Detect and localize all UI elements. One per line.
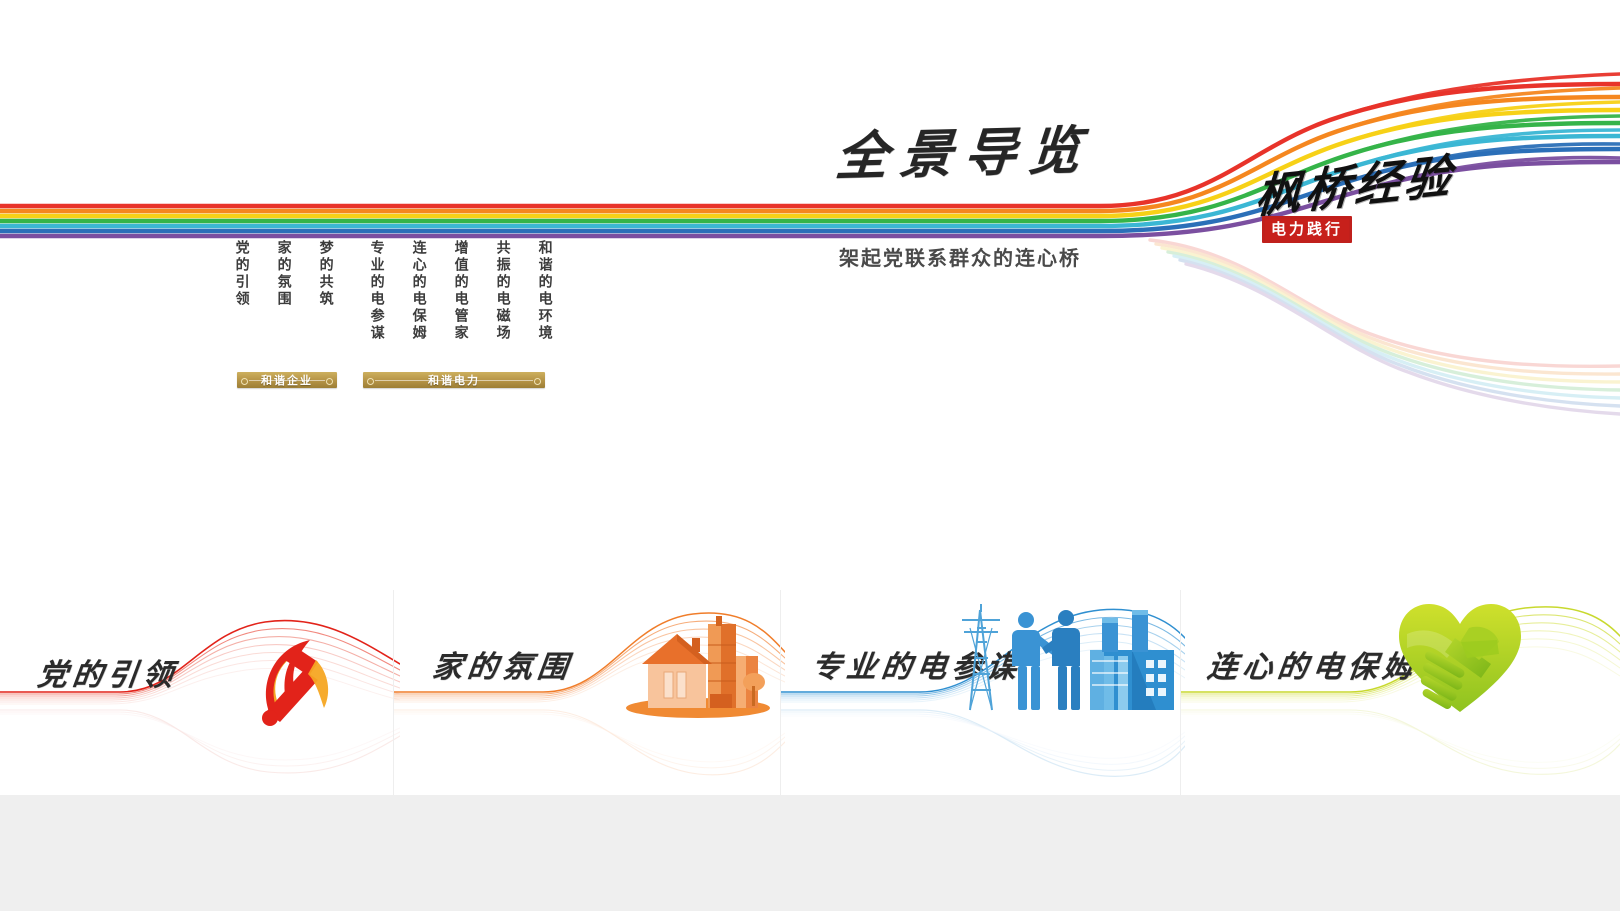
fengqiao-calligraphy-text: 枫桥经验 xyxy=(1253,135,1496,227)
bar-rule xyxy=(249,380,325,381)
house-illustration-icon xyxy=(626,610,776,720)
vertical-column-4: 连心的电保姆 xyxy=(407,240,430,342)
seal-text: 电力践行 xyxy=(1271,221,1343,238)
category-bar-harmonious-power[interactable]: 和谐电力 xyxy=(363,372,545,388)
main-title-block: 全景导览 架起党联系群众的连心桥 xyxy=(836,128,1116,268)
vertical-column-2: 梦的共筑 xyxy=(314,240,337,308)
page-subtitle: 架起党联系群众的连心桥 xyxy=(839,242,1081,271)
power-plant-workers-icon xyxy=(960,598,1180,718)
fengqiao-calligraphy-block: 枫桥经验 电力践行 xyxy=(1255,148,1495,283)
poster-canvas: 全景导览 架起党联系群众的连心桥 枫桥经验 电力践行 党的引领 家的氛围 梦的共… xyxy=(0,0,1620,911)
panel-home-atmosphere[interactable]: 家的氛围 xyxy=(393,560,780,795)
panel-divider-2 xyxy=(780,590,781,795)
vertical-column-3: 专业的电参谋 xyxy=(365,240,388,342)
vertical-column-5: 增值的电管家 xyxy=(449,240,472,342)
vertical-column-6: 共振的电磁场 xyxy=(491,240,514,342)
page-title: 全景导览 xyxy=(834,124,1119,186)
red-seal-stamp: 电力践行 xyxy=(1262,216,1352,243)
vertical-column-7: 和谐的电环境 xyxy=(533,240,556,342)
category-bar-harmonious-enterprise[interactable]: 和谐企业 xyxy=(237,372,337,388)
panel-heart-connected-steward[interactable]: 连心的电保姆 xyxy=(1180,560,1620,795)
panel-label-heart-connected-steward: 连心的电保姆 xyxy=(1205,642,1420,686)
vertical-column-0: 党的引领 xyxy=(230,240,253,308)
party-emblem-icon xyxy=(246,626,351,731)
footer-bar: S.T DESIGN xyxy=(0,795,1620,911)
panel-label-party-leadership: 党的引领 xyxy=(35,650,180,694)
vertical-column-1: 家的氛围 xyxy=(272,240,295,308)
bar-rule xyxy=(375,380,533,381)
panel-professional-advisor[interactable]: 专业的电参谋 xyxy=(780,560,1180,795)
panel-label-home-atmosphere: 家的氛围 xyxy=(430,642,575,686)
bottom-panel-row: 党的引领 xyxy=(0,560,1620,795)
panel-party-leadership[interactable]: 党的引领 xyxy=(0,560,393,795)
panel-divider-3 xyxy=(1180,590,1181,795)
green-heart-handshake-icon xyxy=(1395,598,1525,718)
panel-divider-1 xyxy=(393,590,394,795)
